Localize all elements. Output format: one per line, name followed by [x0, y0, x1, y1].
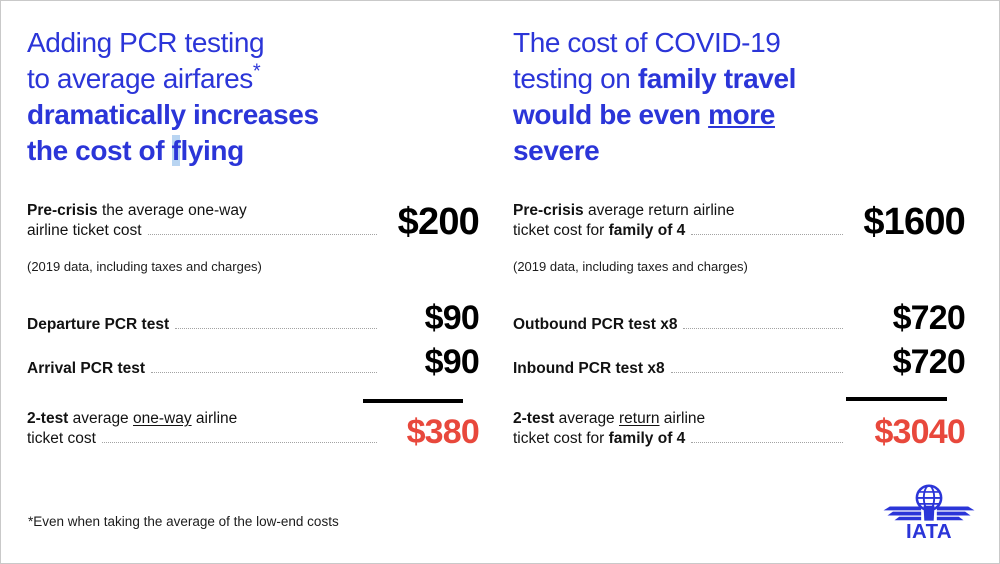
table-row: Inbound PCR test x8 $720 [513, 345, 965, 379]
footnote: *Even when taking the average of the low… [28, 513, 339, 531]
left-total-rule [363, 399, 463, 403]
row-label-bold: Inbound PCR test x8 [513, 359, 665, 379]
row-label-line2: ticket cost for family of 4 [513, 429, 685, 449]
right-subnote: (2019 data, including taxes and charges) [513, 259, 748, 275]
dotted-leader [671, 372, 843, 373]
infographic-poster: Adding PCR testing to average airfares* … [0, 0, 1000, 564]
row-label-bold: 2-test [27, 410, 68, 427]
row-label-rest: average return airline [584, 202, 735, 219]
table-row-total: 2-test average one-way airline ticket co… [27, 409, 479, 449]
row-label-line2-bold: family of 4 [609, 222, 686, 239]
row-label: Pre-crisis average return airline ticket… [513, 201, 853, 241]
row-label-bold: Arrival PCR test [27, 359, 145, 379]
table-row: Arrival PCR test $90 [27, 345, 479, 379]
table-row: Pre-crisis average return airline ticket… [513, 201, 965, 241]
left-headline-line1: Adding PCR testing [27, 27, 264, 58]
row-label: 2-test average return airline ticket cos… [513, 409, 853, 449]
table-row: Outbound PCR test x8 $720 [513, 301, 965, 335]
row-value: $720 [853, 345, 965, 379]
left-headline-line2: to average airfares [27, 63, 253, 94]
row-label: Departure PCR test [27, 315, 387, 335]
right-headline-line4: severe [513, 135, 599, 166]
right-total-rule [846, 397, 947, 401]
row-value: $90 [387, 345, 479, 379]
row-value-total: $3040 [853, 415, 965, 449]
right-column: The cost of COVID-19 testing on family t… [501, 1, 981, 564]
dotted-leader [691, 234, 843, 235]
row-label-tail: airline [192, 410, 238, 427]
row-label-rest: average [68, 410, 133, 427]
row-label-bold: Departure PCR test [27, 315, 169, 335]
row-value: $200 [387, 203, 479, 241]
row-label-tail: airline [660, 410, 706, 427]
row-label-line2: airline ticket cost [27, 221, 142, 241]
row-label-rest: average [554, 410, 619, 427]
right-headline-line1: The cost of COVID-19 [513, 27, 780, 58]
table-row: Pre-crisis the average one-way airline t… [27, 201, 479, 241]
dotted-leader [175, 328, 377, 329]
dotted-leader [102, 442, 377, 443]
iata-logo-icon: IATA [881, 483, 977, 541]
row-label-rest: the average one-way [98, 202, 247, 219]
right-headline-line2-bold: family travel [638, 63, 796, 94]
row-value-total: $380 [387, 415, 479, 449]
left-headline-line3: dramatically increases [27, 99, 319, 130]
row-label: Outbound PCR test x8 [513, 315, 853, 335]
row-label-line2-pre: ticket cost for [513, 222, 609, 239]
left-headline: Adding PCR testing to average airfares* … [27, 25, 447, 169]
row-value: $720 [853, 301, 965, 335]
left-column: Adding PCR testing to average airfares* … [15, 1, 495, 564]
row-label-line2: ticket cost for family of 4 [513, 221, 685, 241]
table-row-total: 2-test average return airline ticket cos… [513, 409, 965, 449]
row-label: Pre-crisis the average one-way airline t… [27, 201, 387, 241]
right-headline: The cost of COVID-19 testing on family t… [513, 25, 933, 169]
row-label: Inbound PCR test x8 [513, 359, 853, 379]
left-subnote: (2019 data, including taxes and charges) [27, 259, 262, 275]
left-headline-line4-pre: the cost of [27, 135, 172, 166]
row-label-bold: Pre-crisis [27, 202, 98, 219]
right-headline-line2-regular: testing on [513, 63, 638, 94]
right-headline-line3-underlined: more [708, 99, 775, 130]
table-row: Departure PCR test $90 [27, 301, 479, 335]
iata-logo-wordmark: IATA [906, 521, 952, 541]
left-headline-asterisk: * [253, 61, 260, 83]
row-label: Arrival PCR test [27, 359, 387, 379]
row-label-underlined: return [619, 410, 660, 427]
row-label-line2-pre: ticket cost for [513, 430, 609, 447]
row-value: $90 [387, 301, 479, 335]
left-headline-line4-post: lying [180, 135, 243, 166]
dotted-leader [151, 372, 377, 373]
iata-logo: IATA [881, 483, 977, 541]
row-label-bold: Outbound PCR test x8 [513, 315, 677, 335]
right-headline-line3: would be even [513, 99, 708, 130]
dotted-leader [691, 442, 843, 443]
row-label-bold: 2-test [513, 410, 554, 427]
dotted-leader [148, 234, 377, 235]
row-label-line2-bold: family of 4 [609, 430, 686, 447]
row-label-line2: ticket cost [27, 429, 96, 449]
row-label-bold: Pre-crisis [513, 202, 584, 219]
dotted-leader [683, 328, 843, 329]
row-value: $1600 [853, 203, 965, 241]
row-label: 2-test average one-way airline ticket co… [27, 409, 387, 449]
row-label-underlined: one-way [133, 410, 192, 427]
